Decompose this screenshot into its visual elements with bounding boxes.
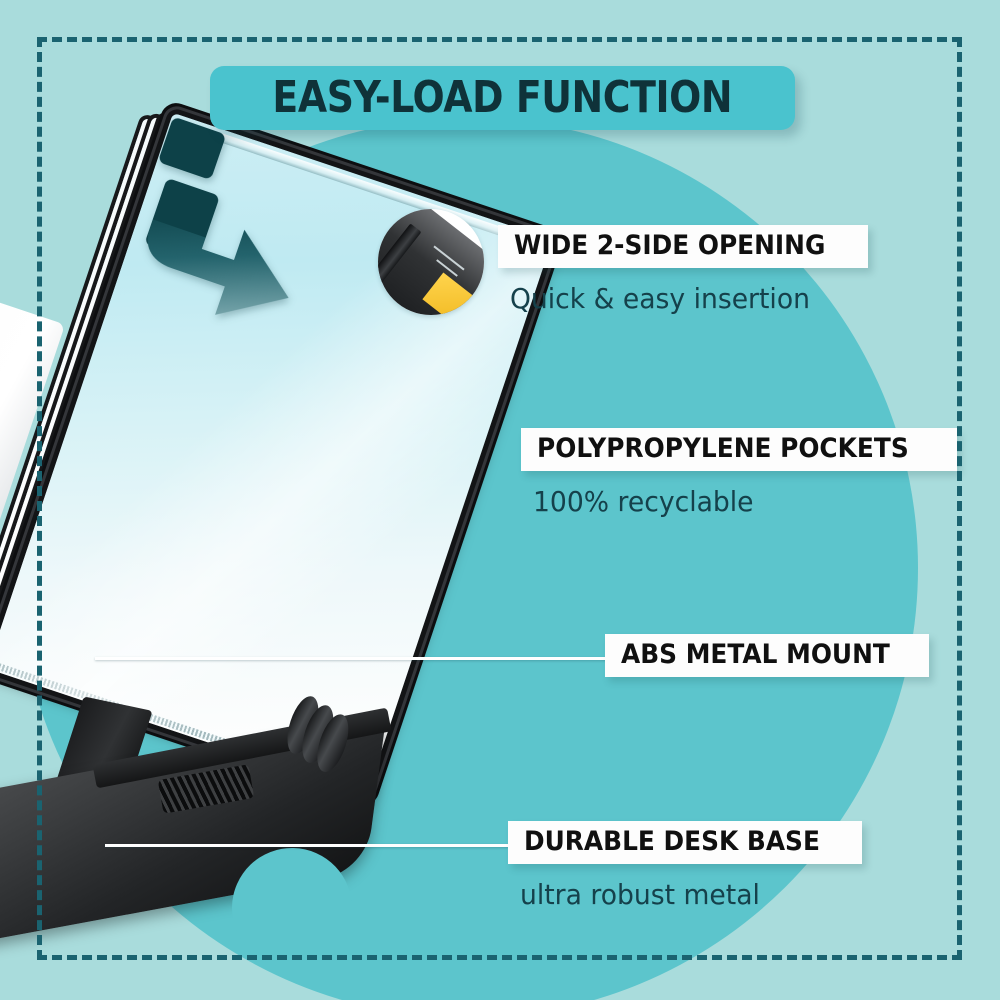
page-title: EASY-LOAD FUNCTION — [273, 76, 733, 120]
callout-label: WIDE 2-SIDE OPENING — [514, 232, 825, 260]
callout-wide-2-side-opening: WIDE 2-SIDE OPENING Quick & easy inserti… — [498, 225, 868, 315]
title-banner: EASY-LOAD FUNCTION — [210, 66, 795, 130]
callout-label: ABS METAL MOUNT — [621, 641, 890, 669]
callout-label: DURABLE DESK BASE — [524, 828, 820, 856]
callout-durable-desk-base: DURABLE DESK BASE ultra robust metal — [508, 821, 862, 911]
infographic-canvas: EASY-LOAD FUNCTION WIDE 2-SIDE OPENING Q… — [0, 0, 1000, 1000]
leader-line-abs-metal-mount — [95, 657, 607, 660]
desk-base-assembly — [0, 720, 430, 950]
callout-label-box: ABS METAL MOUNT — [605, 634, 929, 677]
callout-label-box: WIDE 2-SIDE OPENING — [498, 225, 868, 268]
callout-subtext: ultra robust metal — [520, 878, 845, 911]
callout-subtext: Quick & easy insertion — [510, 282, 851, 315]
callout-label-box: DURABLE DESK BASE — [508, 821, 862, 864]
callout-label: POLYPROPYLENE POCKETS — [537, 435, 909, 463]
pocket-corner-closeup-photo — [378, 209, 484, 315]
callout-polypropylene-pockets: POLYPROPYLENE POCKETS 100% recyclable — [521, 428, 957, 518]
callout-abs-metal-mount: ABS METAL MOUNT — [605, 634, 929, 677]
leader-line-durable-desk-base — [105, 844, 510, 847]
callout-subtext: 100% recyclable — [533, 485, 936, 518]
callout-label-box: POLYPROPYLENE POCKETS — [521, 428, 957, 471]
